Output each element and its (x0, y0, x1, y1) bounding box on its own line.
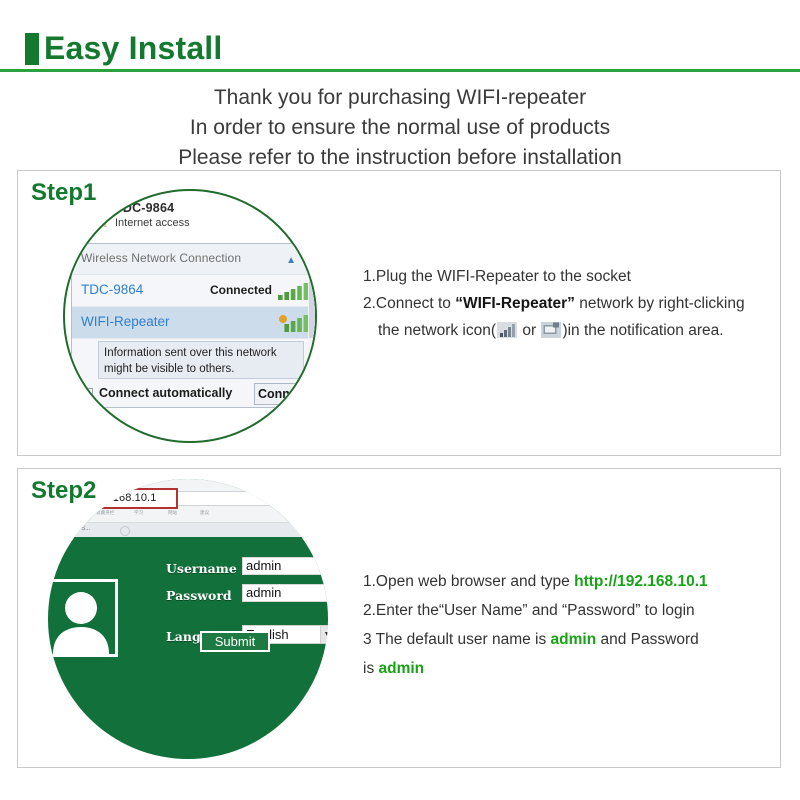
browser-chrome: 地址栏 192.168.10.1 收藏夹 收藏夹栏 学习 网站 建议 eater… (48, 479, 328, 536)
step2-panel: Step2 地址栏 192.168.10.1 收藏夹 收藏夹栏 学习 网站 建议… (17, 468, 781, 768)
network-list-scrollbar[interactable] (308, 274, 317, 379)
note-line-2: might be visible to others. (104, 363, 234, 375)
tooltip-network-status: Internet access (115, 217, 190, 229)
password-label: Password (166, 588, 238, 603)
windows-network-flyout: TDC-9864 Internet access Wireless Networ… (63, 191, 317, 441)
toolbar-item-1[interactable]: 收藏夹栏 (96, 510, 114, 516)
page-header: Easy Install (0, 0, 800, 72)
signal-bars-icon (278, 315, 310, 332)
step1-panel: Step1 TDC-9864 Internet access Wireless … (17, 170, 781, 456)
browser-tab-strip: eater Web S... (48, 522, 328, 537)
step1-instruction-2-part-c: network by right-clicking (575, 295, 745, 312)
password-row: Password admin (166, 584, 328, 608)
step2-instruction-3: 3 The default user name is admin and Pas… (363, 625, 773, 654)
step1-instruction-3-part-a: the network icon( (378, 322, 496, 339)
scrollbar-thumb[interactable] (309, 276, 316, 338)
submit-button[interactable]: Submit (200, 631, 270, 652)
default-username-value: admin (551, 631, 597, 648)
connect-automatically-checkbox[interactable] (82, 388, 93, 399)
header-divider (0, 69, 800, 72)
network-panel-footer: Connect automatically Connect (72, 382, 317, 409)
step2-instruction-3-part-a: 3 The default user name is (363, 631, 551, 648)
router-url-link[interactable]: http://192.168.10.1 (574, 573, 708, 590)
step1-instruction-3: the network icon( or )in the notificatio… (363, 317, 768, 344)
network-name: TDC-9864 (81, 282, 143, 297)
header-accent-mark (25, 33, 39, 65)
step2-instruction-1: 1.Open web browser and type http://192.1… (363, 567, 773, 596)
chevron-down-icon[interactable]: ▼ (320, 626, 328, 643)
step1-instruction-2-part-a: 2.Connect to (363, 295, 455, 312)
network-row-wifi-repeater[interactable]: WIFI-Repeater (72, 307, 317, 339)
browser-toolbar: 收藏夹 收藏夹栏 学习 网站 建议 (58, 510, 258, 519)
connect-button[interactable]: Connect (254, 383, 312, 405)
toolbar-item-2[interactable]: 学习 (134, 510, 143, 516)
step2-instruction-4: is admin (363, 654, 773, 683)
tooltip-network-name: TDC-9864 (115, 201, 190, 215)
step2-instruction-4-part-a: is (363, 660, 379, 677)
step2-screenshot-circle: 地址栏 192.168.10.1 收藏夹 收藏夹栏 学习 网站 建议 eater… (48, 479, 328, 759)
network-tooltip: TDC-9864 Internet access (115, 201, 190, 229)
network-monitor-icon (541, 320, 561, 336)
network-panel-header-label: Wireless Network Connection (81, 251, 241, 265)
user-avatar-icon (48, 579, 118, 657)
step1-instruction-1: 1.Plug the WIFI-Repeater to the socket (363, 263, 768, 290)
step1-instruction-3-part-b: or (518, 322, 540, 339)
network-list-panel: Wireless Network Connection ▲ TDC-9864 C… (71, 243, 317, 408)
toolbar-item-3[interactable]: 网站 (168, 510, 177, 516)
username-row: Username admin (166, 557, 328, 581)
intro-line-3: Please refer to the instruction before i… (0, 143, 800, 173)
step1-instruction-2-emphasis: “WIFI-Repeater” (455, 295, 575, 312)
network-status: Connected (210, 283, 272, 297)
intro-paragraph: Thank you for purchasing WIFI-repeater I… (0, 83, 800, 173)
favorites-star-icon[interactable] (67, 493, 76, 502)
default-password-value: admin (379, 660, 425, 677)
step2-instruction-2: 2.Enter the“User Name” and “Password” to… (363, 596, 773, 625)
network-panel-header: Wireless Network Connection ▲ (72, 244, 317, 275)
step2-instruction-1-part-a: 1.Open web browser and type (363, 573, 574, 590)
connect-automatically-label: Connect automatically (99, 386, 232, 400)
network-name: WIFI-Repeater (81, 314, 170, 329)
username-input[interactable]: admin (242, 557, 328, 575)
form-spacer (166, 611, 328, 625)
new-tab-icon[interactable] (120, 526, 130, 536)
signal-bars-icon (278, 283, 310, 300)
intro-line-2: In order to ensure the normal use of pro… (0, 113, 800, 143)
address-bar-url: 192.168.10.1 (91, 492, 156, 504)
password-input[interactable]: admin (242, 584, 328, 602)
browser-tab-title[interactable]: eater Web S... (52, 526, 90, 532)
step2-instruction-3-part-c: and Password (596, 631, 699, 648)
page-title: Easy Install (44, 28, 223, 68)
step1-instruction-3-part-c: )in the notification area. (562, 322, 723, 339)
toolbar-item-4[interactable]: 建议 (200, 510, 209, 516)
intro-line-1: Thank you for purchasing WIFI-repeater (0, 83, 800, 113)
network-row-connected[interactable]: TDC-9864 Connected (72, 275, 317, 307)
note-line-1: Information sent over this network (104, 347, 277, 359)
chrome-top-label: 地址栏 (110, 480, 123, 486)
chevron-up-icon[interactable]: ▲ (286, 255, 296, 266)
step2-instructions: 1.Open web browser and type http://192.1… (363, 567, 773, 683)
wifi-signal-icon (93, 213, 109, 227)
step1-screenshot-circle: TDC-9864 Internet access Wireless Networ… (63, 189, 317, 443)
username-label: Username (166, 561, 238, 576)
wifi-bars-icon (497, 320, 517, 336)
toolbar-item-0[interactable]: 收藏夹 (58, 510, 72, 516)
step1-instructions: 1.Plug the WIFI-Repeater to the socket 2… (363, 263, 768, 344)
network-security-note: Information sent over this network might… (98, 341, 304, 379)
step1-instruction-2: 2.Connect to “WIFI-Repeater” network by … (363, 290, 768, 317)
